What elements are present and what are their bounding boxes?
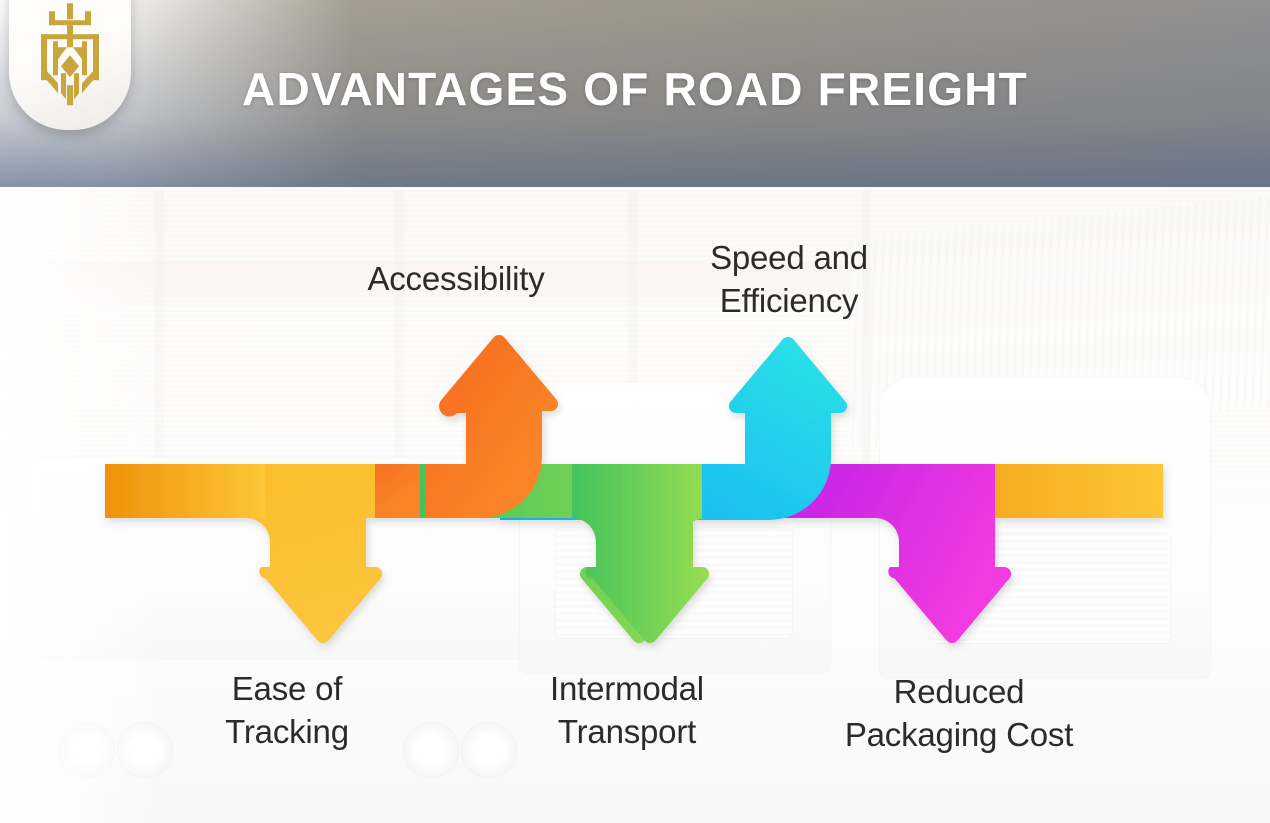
label-reduced-line1: Reduced — [812, 671, 1106, 714]
label-reduced-packaging-cost: Reduced Packaging Cost — [812, 671, 1106, 756]
label-speed-and-efficiency: Speed and Efficiency — [652, 237, 926, 322]
label-intermodal-line2: Transport — [490, 711, 764, 754]
label-ease-of-tracking: Ease of Tracking — [150, 668, 424, 753]
label-intermodal-line1: Intermodal — [490, 668, 764, 711]
label-speed-line1: Speed and — [652, 237, 926, 280]
label-reduced-line2: Packaging Cost — [812, 714, 1106, 757]
arrow-down-green-bend — [572, 464, 709, 643]
band-segment-yellow-left — [105, 464, 265, 518]
infographic-slide: ADVANTAGES OF ROAD FREIGHT — [0, 0, 1270, 823]
label-ease-line1: Ease of — [150, 668, 424, 711]
label-ease-line2: Tracking — [150, 711, 424, 754]
label-intermodal-transport: Intermodal Transport — [490, 668, 764, 753]
arrow-down-yellow-shape — [246, 464, 382, 643]
label-speed-line2: Efficiency — [652, 280, 926, 323]
label-accessibility: Accessibility — [300, 258, 612, 301]
